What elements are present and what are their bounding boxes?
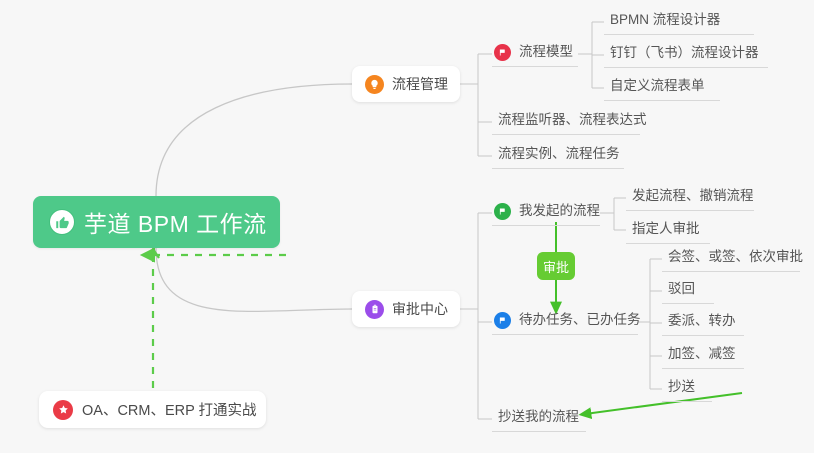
arrow-callout-head: [147, 249, 159, 258]
flag-icon: [494, 203, 511, 220]
callout-integration-label: OA、CRM、ERP 打通实战: [82, 399, 257, 420]
node-flow-model[interactable]: 流程模型: [492, 43, 578, 67]
node-todo-done-tasks-label: 待办任务、已办任务: [519, 311, 641, 329]
branch-flow-management[interactable]: 流程管理: [352, 66, 460, 102]
leaf-custom-form[interactable]: 自定义流程表单: [604, 77, 720, 101]
root-node[interactable]: 芋道 BPM 工作流: [33, 196, 280, 248]
leaf-add-remove-sign[interactable]: 加签、减签: [662, 345, 744, 369]
flag-icon: [494, 312, 511, 329]
star-icon: [53, 400, 73, 420]
node-flow-model-label: 流程模型: [519, 43, 573, 61]
root-label: 芋道 BPM 工作流: [84, 205, 267, 239]
clipboard-icon: [365, 300, 384, 319]
branch-flow-management-label: 流程管理: [392, 74, 448, 94]
branch-approval-center[interactable]: 审批中心: [352, 291, 460, 327]
lightbulb-icon: [365, 75, 384, 94]
leaf-bpmn-designer[interactable]: BPMN 流程设计器: [604, 11, 754, 35]
leaf-countersign[interactable]: 会签、或签、依次审批: [662, 248, 800, 272]
thumbs-up-icon: [49, 209, 75, 235]
node-my-started-flows-label: 我发起的流程: [519, 202, 600, 220]
leaf-cc[interactable]: 抄送: [662, 378, 712, 402]
branch-approval-center-label: 审批中心: [392, 299, 448, 319]
callout-integration[interactable]: OA、CRM、ERP 打通实战: [39, 391, 266, 428]
leaf-listener-expression[interactable]: 流程监听器、流程表达式: [492, 111, 640, 135]
flag-icon: [494, 44, 511, 61]
leaf-start-cancel-flow[interactable]: 发起流程、撤销流程: [626, 187, 754, 211]
node-my-started-flows[interactable]: 我发起的流程: [492, 202, 600, 226]
leaf-cc-to-me-flows[interactable]: 抄送我的流程: [492, 408, 586, 432]
leaf-instance-task[interactable]: 流程实例、流程任务: [492, 145, 624, 169]
approval-pill: 审批: [537, 252, 575, 280]
leaf-reject[interactable]: 驳回: [662, 280, 714, 304]
approval-pill-label: 审批: [543, 257, 569, 276]
mindmap-canvas: 芋道 BPM 工作流 流程管理 审批中心 流程模型 BPMN 流程设计器 钉钉（…: [0, 0, 814, 453]
link-root-to-approval-center: [156, 248, 352, 311]
node-todo-done-tasks[interactable]: 待办任务、已办任务: [492, 311, 638, 335]
leaf-dingtalk-designer[interactable]: 钉钉（飞书）流程设计器: [604, 44, 768, 68]
link-root-to-flow-management: [156, 84, 352, 196]
leaf-delegate-transfer[interactable]: 委派、转办: [662, 312, 744, 336]
leaf-assignee-approval[interactable]: 指定人审批: [626, 220, 710, 244]
